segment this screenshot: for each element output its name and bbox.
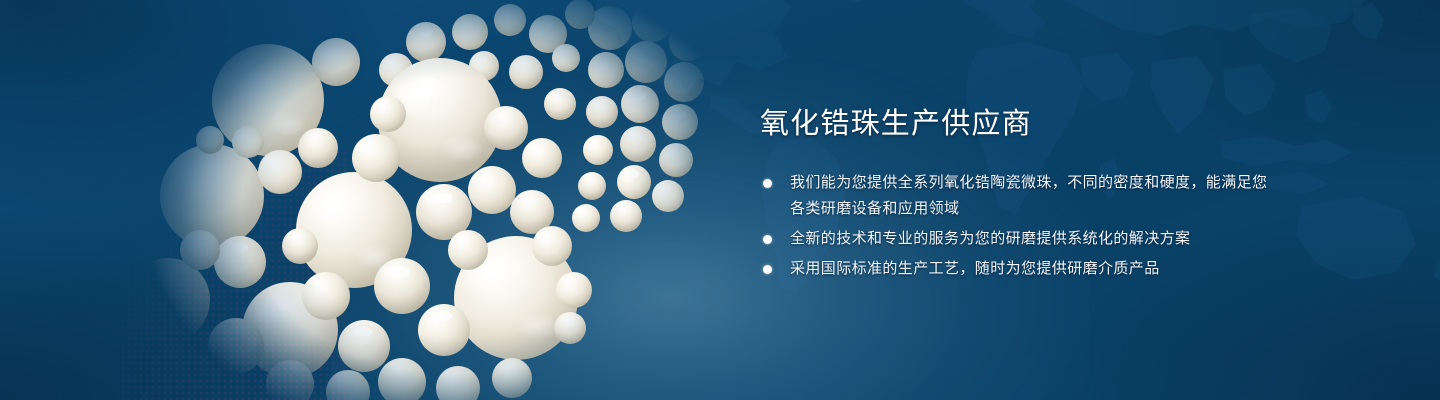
bullet-dot-icon bbox=[763, 179, 772, 188]
list-item: 全新的技术和专业的服务为您的研磨提供系统化的解决方案 bbox=[760, 226, 1280, 252]
list-item: 我们能为您提供全系列氧化锆陶瓷微珠，不同的密度和硬度，能满足您各类研磨设备和应用… bbox=[760, 170, 1280, 222]
hero-banner: 氧化锆珠生产供应商 我们能为您提供全系列氧化锆陶瓷微珠，不同的密度和硬度，能满足… bbox=[0, 0, 1440, 400]
page-title: 氧化锆珠生产供应商 bbox=[760, 104, 1280, 144]
feature-bullet-list: 我们能为您提供全系列氧化锆陶瓷微珠，不同的密度和硬度，能满足您各类研磨设备和应用… bbox=[760, 170, 1280, 282]
banner-text-content: 氧化锆珠生产供应商 我们能为您提供全系列氧化锆陶瓷微珠，不同的密度和硬度，能满足… bbox=[760, 104, 1280, 282]
list-item: 采用国际标准的生产工艺，随时为您提供研磨介质产品 bbox=[760, 256, 1280, 282]
list-item-label: 我们能为您提供全系列氧化锆陶瓷微珠，不同的密度和硬度，能满足您各类研磨设备和应用… bbox=[790, 170, 1280, 222]
bullet-dot-icon bbox=[763, 265, 772, 274]
list-item-label: 全新的技术和专业的服务为您的研磨提供系统化的解决方案 bbox=[790, 226, 1280, 252]
bullet-dot-icon bbox=[763, 235, 772, 244]
list-item-label: 采用国际标准的生产工艺，随时为您提供研磨介质产品 bbox=[790, 256, 1280, 282]
